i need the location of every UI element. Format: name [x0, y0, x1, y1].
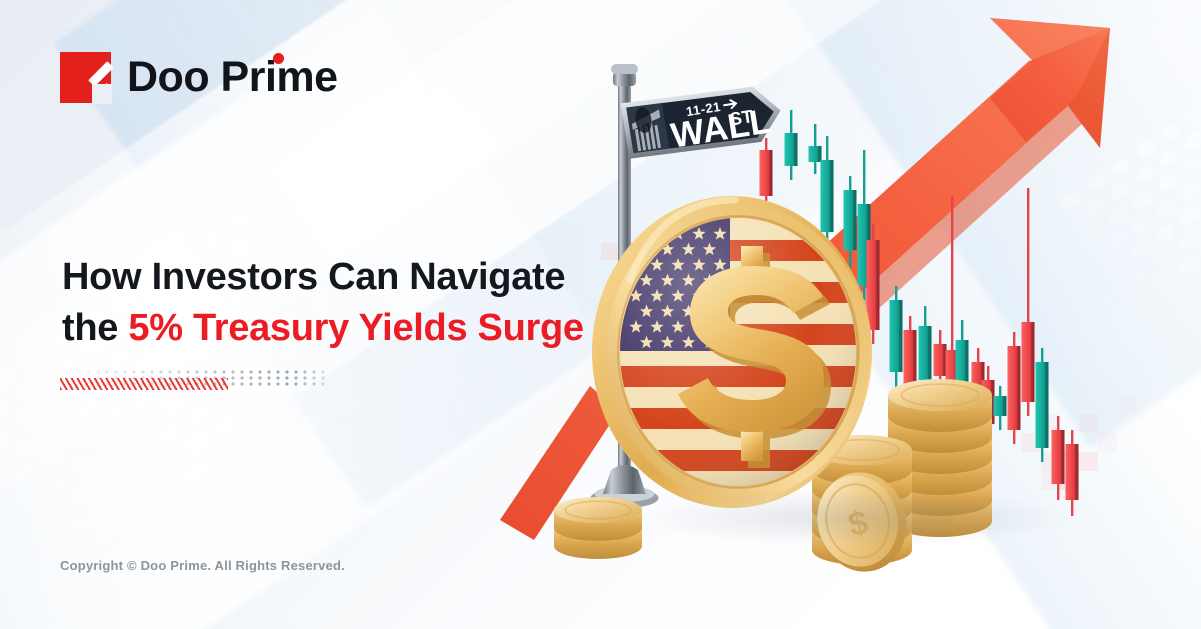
divider-stripe-bar — [60, 378, 228, 390]
honeycomb-cell — [272, 399, 299, 424]
honeycomb-cell — [186, 401, 213, 426]
honeycomb-cell — [20, 347, 47, 372]
headline-line-1: How Investors Can Navigate — [62, 256, 565, 298]
honeycomb-cell — [270, 428, 297, 453]
honeycomb-cell — [182, 460, 209, 485]
honeycomb-cell — [125, 471, 152, 496]
headline-line-2-accent: 5% Treasury Yields Surge — [128, 307, 583, 349]
honeycomb-cell — [95, 491, 122, 516]
us-flag-dollar-coin — [592, 196, 872, 508]
page-title: How Investors Can Navigate the 5% Treasu… — [62, 252, 622, 354]
candle-side-shade — [1075, 444, 1078, 500]
honeycomb-cell — [37, 502, 64, 527]
decorative-divider — [60, 370, 330, 392]
honeycomb-cell — [244, 390, 271, 415]
honeycomb-cell — [0, 368, 16, 393]
honeycomb-cell — [359, 368, 386, 393]
honeycomb-cell — [212, 440, 239, 465]
honeycomb-cell — [71, 424, 98, 449]
honeycomb-cell — [121, 529, 148, 554]
candle-side-shade — [928, 326, 931, 380]
honeycomb-cell — [14, 435, 41, 460]
candle-side-shade — [818, 146, 821, 162]
honeycomb-cell — [159, 392, 186, 417]
honeycomb-cell — [152, 480, 179, 505]
coin-stack-small-left — [554, 497, 642, 559]
honeycomb-cell — [0, 426, 12, 451]
honeycomb-cell — [0, 397, 14, 422]
honeycomb-cell — [123, 500, 150, 525]
honeycomb-cell — [11, 464, 38, 489]
honeycomb-cell — [157, 422, 184, 447]
candle-side-shade — [794, 133, 797, 166]
honeycomb-cell — [65, 511, 92, 536]
copyright-text: Copyright © Doo Prime. All Rights Reserv… — [60, 558, 345, 573]
brand-name: Doo Prime — [127, 56, 338, 99]
honeycomb-cell — [184, 431, 211, 456]
honeycomb-cell — [67, 482, 94, 507]
candle-side-shade — [1061, 430, 1064, 484]
honeycomb-cell — [41, 444, 68, 469]
candle-side-shade — [1031, 322, 1034, 402]
honeycomb-cell — [180, 489, 207, 514]
honeycomb-cell — [69, 453, 96, 478]
honeycomb-cell — [242, 419, 269, 444]
honeycomb-cell — [240, 449, 267, 474]
honeycomb-cell — [16, 406, 43, 431]
honeycomb-cell — [331, 359, 358, 384]
candle-side-shade — [876, 240, 879, 330]
honeycomb-cell — [150, 509, 177, 534]
honeycomb-cell — [73, 395, 100, 420]
honeycomb-cell — [154, 451, 181, 476]
candle-side-shade — [830, 160, 833, 232]
candle-side-shade — [769, 150, 772, 196]
banner-canvas: 11-21 WALL ST — [0, 0, 1201, 629]
sign-suffix-label: ST — [728, 106, 754, 129]
honeycomb-cell — [229, 207, 256, 232]
honeycomb-cell — [127, 442, 154, 467]
honeycomb-cell — [199, 227, 226, 252]
candle-side-shade — [853, 190, 856, 250]
honeycomb-cell — [210, 469, 237, 494]
honeycomb-cell — [97, 462, 124, 487]
honeycomb-cell — [214, 410, 241, 435]
honeycomb-cell — [329, 388, 356, 413]
honeycomb-cell — [43, 415, 70, 440]
candle-side-shade — [1003, 396, 1006, 416]
headline-line-2-prefix: the — [62, 307, 128, 349]
honeycomb-cell — [256, 216, 283, 241]
honeycomb-cell — [39, 473, 66, 498]
logo-accent-dot — [273, 53, 284, 64]
honeycomb-cell — [300, 408, 327, 433]
honeycomb-cell — [18, 377, 45, 402]
blue-tint-band-left — [0, 94, 341, 629]
candle-side-shade — [899, 300, 902, 372]
honeycomb-cell — [101, 404, 128, 429]
honeycomb-cell — [129, 413, 156, 438]
doo-prime-mark-icon — [60, 52, 111, 103]
candle-side-shade — [1045, 362, 1048, 448]
brand-logo[interactable]: Doo Prime — [60, 52, 338, 103]
honeycomb-cell — [99, 433, 126, 458]
honeycomb-cell — [93, 520, 120, 545]
candle-side-shade — [1017, 346, 1020, 430]
